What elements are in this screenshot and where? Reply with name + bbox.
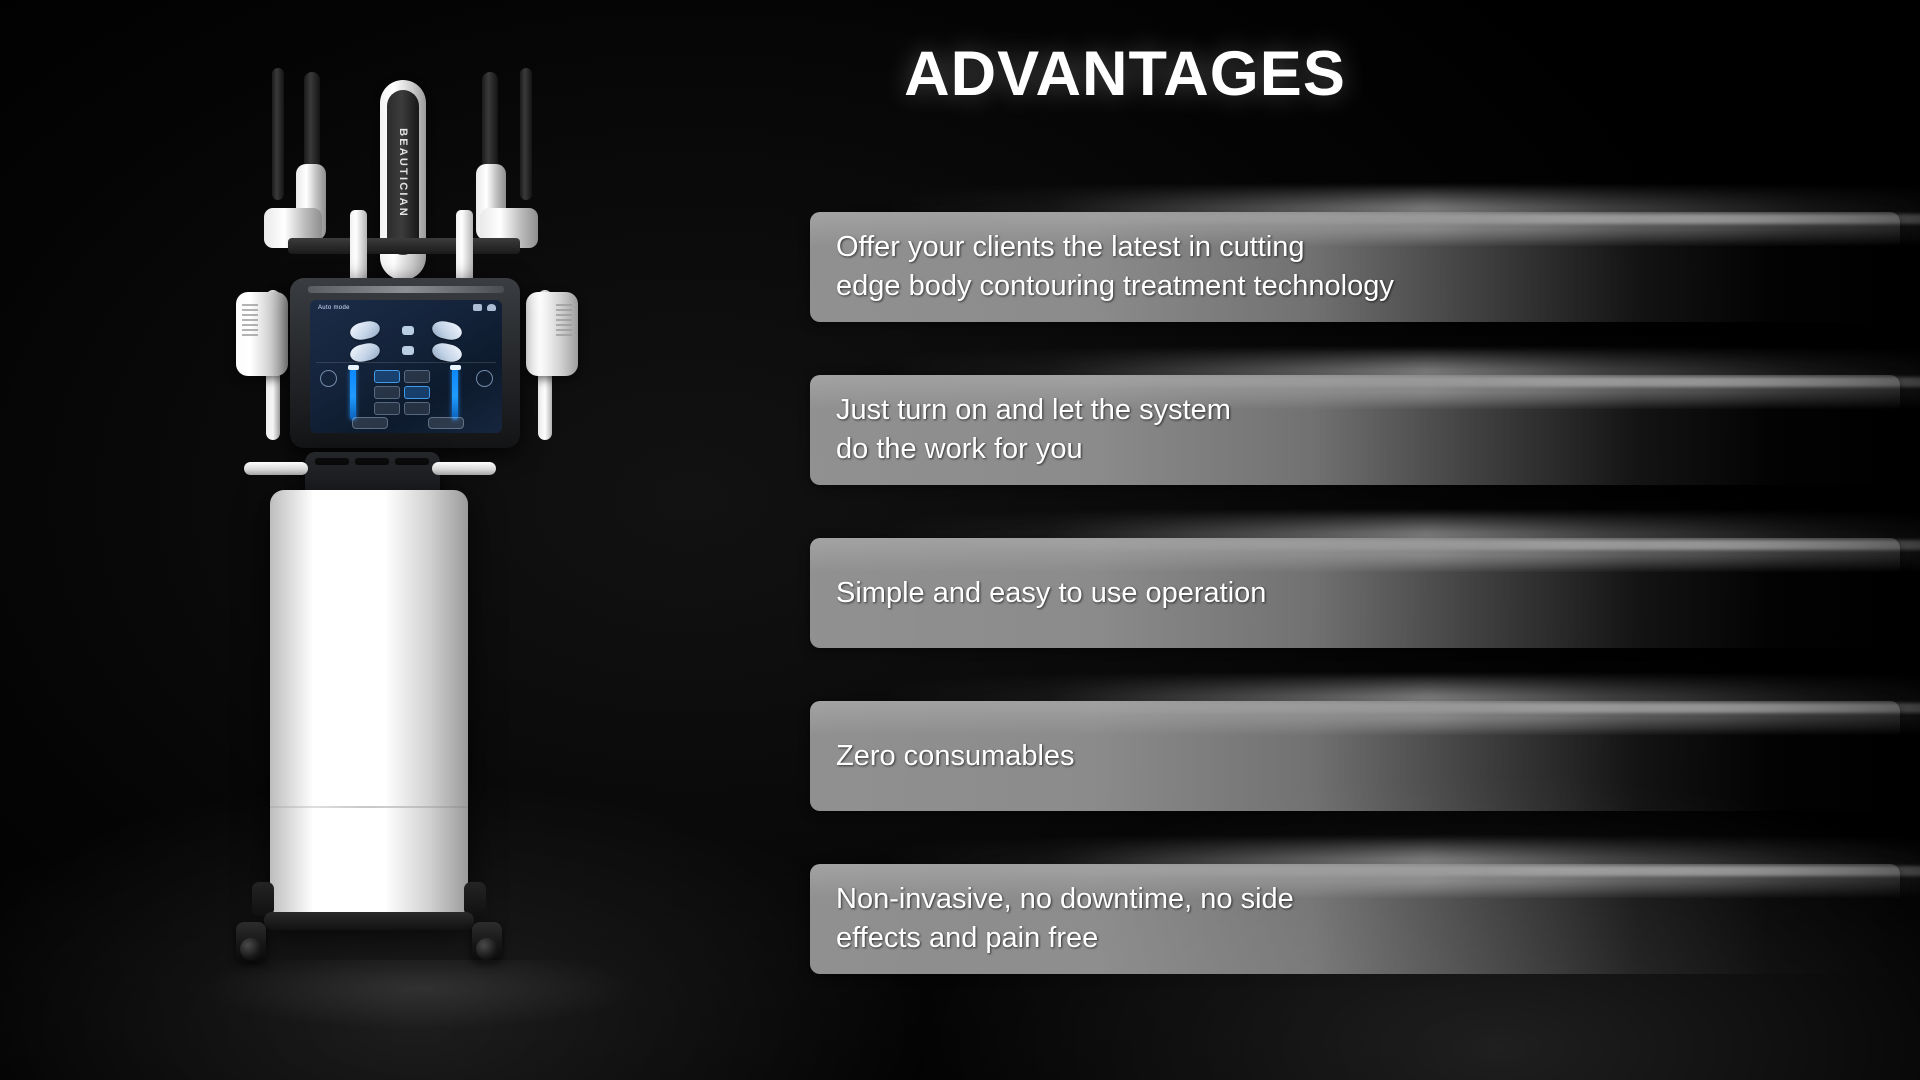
machine-base: [264, 912, 474, 930]
advantage-bar-5[interactable]: Non-invasive, no downtime, no side effec…: [810, 864, 1900, 974]
touchscreen[interactable]: Auto mode: [310, 300, 502, 433]
stop-button[interactable]: [402, 346, 414, 355]
advantage-bar-1[interactable]: Offer your clients the latest in cutting…: [810, 212, 1900, 322]
battery-icon: [473, 304, 482, 311]
castor-front-left: [236, 922, 266, 962]
advantage-row-5: Non-invasive, no downtime, no side effec…: [794, 822, 1920, 985]
preset-tile-4[interactable]: [404, 386, 430, 399]
advantage-bar-2[interactable]: Just turn on and let the system do the w…: [810, 375, 1900, 485]
advantage-text-4: Zero consumables: [836, 737, 1075, 776]
bar-sheen-3: [810, 538, 1900, 572]
advantage-bar-4[interactable]: Zero consumables: [810, 701, 1900, 811]
preset-tile-3[interactable]: [374, 386, 400, 399]
advantage-text-3: Simple and easy to use operation: [836, 574, 1266, 613]
machine-tower: [270, 490, 468, 920]
vent-slot-top-right: [395, 458, 429, 465]
advantage-row-1: Offer your clients the latest in cutting…: [794, 170, 1920, 333]
side-applicator-grill-left: [242, 304, 258, 338]
advantages-list: Offer your clients the latest in cutting…: [794, 170, 1920, 985]
applicator-preview-3[interactable]: [349, 341, 382, 364]
up-arrow-button[interactable]: [402, 326, 414, 335]
castor-rear-right: [464, 882, 486, 916]
slider-knob-right[interactable]: [450, 365, 461, 370]
slide-canvas: BEAUTICIAN Auto mode: [0, 0, 1920, 1080]
support-post-right: [456, 210, 473, 288]
advantage-row-3: Simple and easy to use operation: [794, 496, 1920, 659]
tablet-speaker-strip: [308, 286, 504, 293]
wifi-icon: [487, 304, 496, 311]
side-applicator-right: [526, 292, 578, 376]
center-handle-face: BEAUTICIAN: [387, 90, 419, 255]
intensity-slider-left[interactable]: [350, 368, 356, 420]
intensity-dial-left[interactable]: [320, 370, 337, 387]
advantage-row-2: Just turn on and let the system do the w…: [794, 333, 1920, 496]
tablet-shell: Auto mode: [290, 278, 520, 448]
advantage-text-5: Non-invasive, no downtime, no side effec…: [836, 880, 1294, 958]
advantage-row-4: Zero consumables: [794, 659, 1920, 822]
advantages-panel: ADVANTAGES Offer your clients the latest…: [780, 0, 1920, 1080]
slider-knob-left[interactable]: [348, 365, 359, 370]
applicator-preview-4[interactable]: [431, 341, 464, 364]
side-applicator-grill-right: [556, 304, 572, 338]
applicator-arm-far-left: [272, 68, 284, 200]
vent-slot-top-mid: [355, 458, 389, 465]
advantage-text-2: Just turn on and let the system do the w…: [836, 391, 1231, 469]
castor-front-right: [472, 922, 502, 962]
preset-tile-1[interactable]: [374, 370, 400, 383]
advantage-text-1: Offer your clients the latest in cutting…: [836, 228, 1394, 306]
applicator-preview-1[interactable]: [349, 319, 382, 342]
screen-divider: [316, 362, 496, 363]
applicator-cross-bar: [288, 238, 520, 254]
grab-handle-right[interactable]: [432, 462, 496, 475]
preset-tile-6[interactable]: [404, 402, 430, 415]
floor-reflection: [200, 960, 640, 1030]
page-title: ADVANTAGES: [780, 38, 1470, 110]
intensity-slider-right[interactable]: [452, 368, 458, 420]
bar-sheen-4: [810, 701, 1900, 735]
grab-handle-left[interactable]: [244, 462, 308, 475]
side-applicator-left: [236, 292, 288, 376]
applicator-preview-2[interactable]: [431, 319, 464, 342]
product-image: BEAUTICIAN Auto mode: [230, 60, 610, 1020]
preset-tile-5[interactable]: [374, 402, 400, 415]
advantage-bar-3[interactable]: Simple and easy to use operation: [810, 538, 1900, 648]
preset-tile-2[interactable]: [404, 370, 430, 383]
vent-slot-top-left: [315, 458, 349, 465]
start-button[interactable]: [352, 417, 388, 429]
screen-status-icons: [473, 304, 496, 311]
support-post-left: [350, 210, 367, 288]
castor-rear-left: [252, 882, 274, 916]
screen-title: Auto mode: [318, 305, 350, 311]
pause-button[interactable]: [428, 417, 464, 429]
brand-label: BEAUTICIAN: [397, 128, 409, 218]
applicator-arm-far-right: [520, 68, 532, 200]
tower-seam: [270, 806, 468, 808]
intensity-dial-right[interactable]: [476, 370, 493, 387]
